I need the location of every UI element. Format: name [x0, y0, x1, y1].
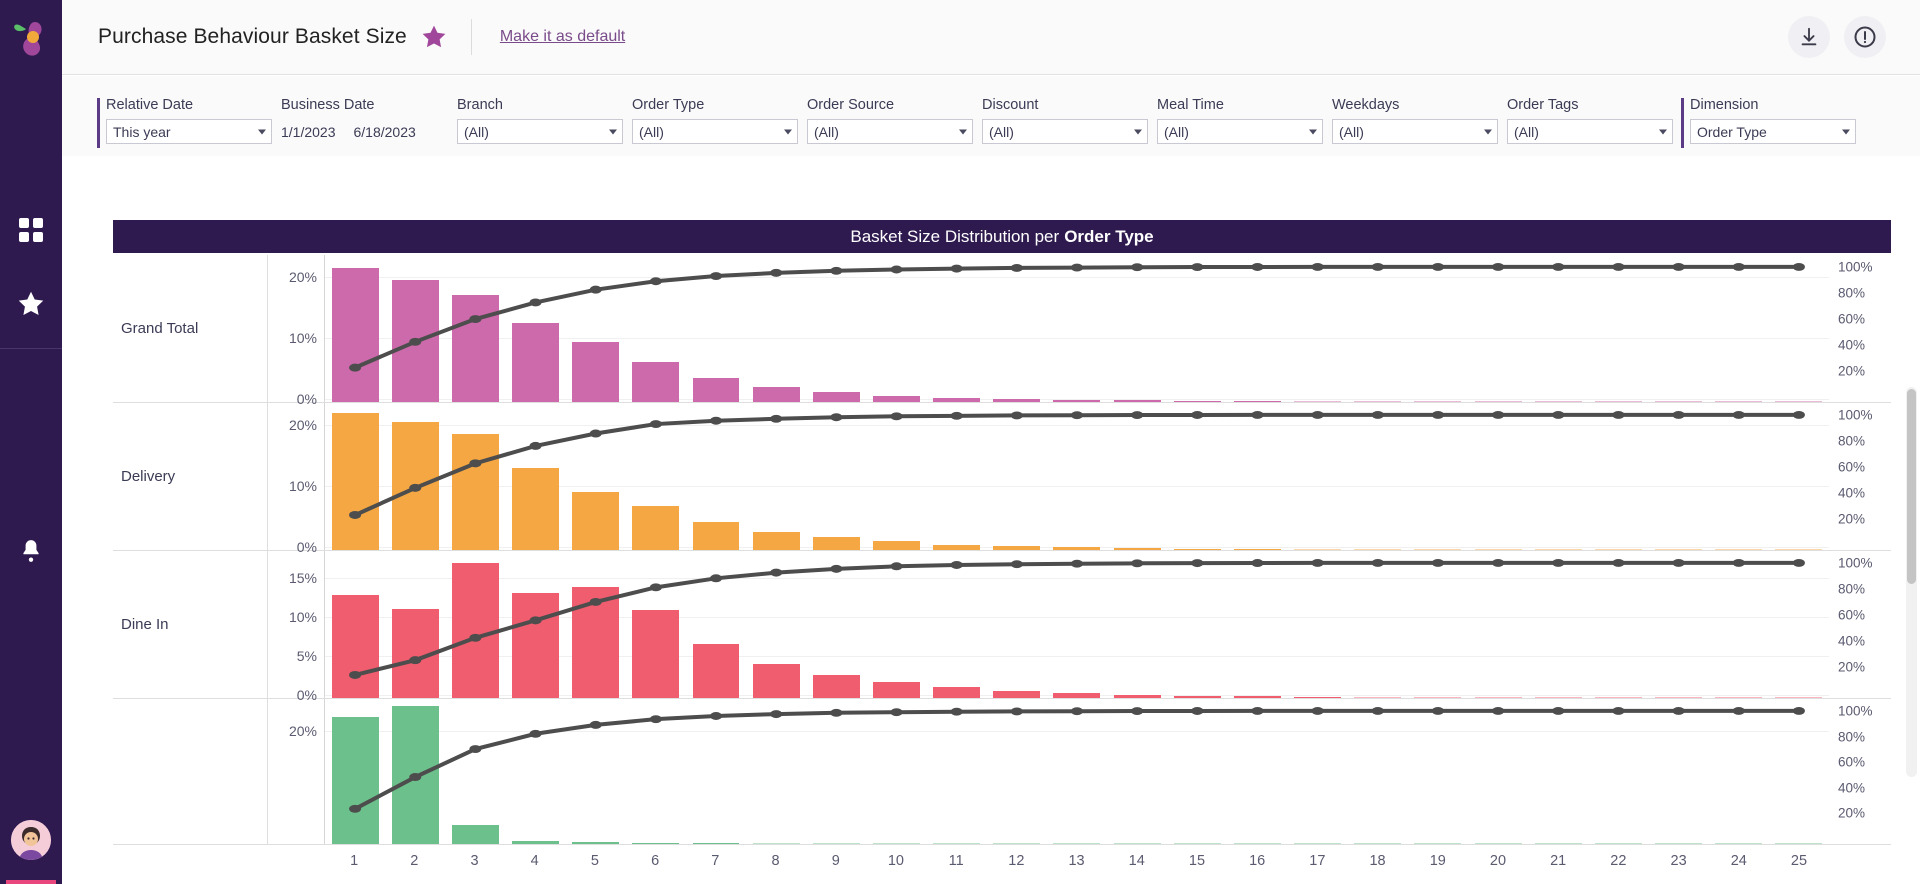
plot-region [324, 403, 1829, 550]
star-icon[interactable] [421, 24, 447, 50]
filter-label: Weekdays [1332, 98, 1498, 112]
x-axis-tick: 9 [806, 845, 866, 879]
x-axis-tick: 1 [324, 845, 384, 879]
filter-value: This year [113, 124, 171, 140]
chart-panel: Delivery0%10%20%100%80%60%40%20% [113, 403, 1891, 551]
x-axis-tick: 4 [505, 845, 565, 879]
filter-label: Order Type [632, 98, 798, 112]
chevron-down-icon[interactable] [1659, 129, 1667, 134]
x-axis-tick: 11 [926, 845, 986, 879]
panel-row-label: Delivery [113, 403, 268, 550]
y-axis-tick: 10% [289, 330, 317, 346]
cumulative-line-series [325, 255, 1829, 402]
date-start[interactable]: 1/1/2023 [281, 124, 336, 140]
x-axis-tick: 25 [1769, 845, 1829, 879]
x-axis-tick: 22 [1588, 845, 1648, 879]
chart-panels: Grand Total0%10%20%100%80%60%40%20%Deliv… [113, 255, 1891, 845]
x-axis-tick: 8 [745, 845, 805, 879]
date-end[interactable]: 6/18/2023 [354, 124, 416, 140]
x-axis-tick: 3 [444, 845, 504, 879]
filter-label: Branch [457, 98, 623, 112]
filter-relative-date: Relative DateThis year [97, 98, 272, 148]
secondary-axis-tick: 80% [1838, 582, 1865, 597]
download-icon[interactable] [1788, 16, 1830, 58]
filter-label: Order Source [807, 98, 973, 112]
filter-label: Order Tags [1507, 98, 1673, 112]
chart-panel: Dine In0%5%10%15%100%80%60%40%20% [113, 551, 1891, 699]
x-axis-tick: 16 [1227, 845, 1287, 879]
secondary-axis-tick: 100% [1838, 260, 1873, 275]
filter-label: Meal Time [1157, 98, 1323, 112]
secondary-axis-tick: 80% [1838, 434, 1865, 449]
notifications-bell-icon[interactable] [9, 529, 53, 573]
x-axis-tick: 13 [1046, 845, 1106, 879]
y-axis-tick: 10% [289, 609, 317, 625]
x-axis-tick: 21 [1528, 845, 1588, 879]
x-axis-tick: 6 [625, 845, 685, 879]
x-axis-tick: 10 [866, 845, 926, 879]
filter-group-list: Relative DateThis yearBusiness Date1/1/2… [97, 98, 1920, 148]
x-axis-tick: 15 [1167, 845, 1227, 879]
secondary-axis-tick: 60% [1838, 755, 1865, 770]
secondary-y-axis: 100%80%60%40%20% [1829, 699, 1891, 844]
secondary-y-axis: 100%80%60%40%20% [1829, 255, 1891, 402]
y-axis-tick: 20% [289, 269, 317, 285]
x-axis-tick: 2 [384, 845, 444, 879]
left-nav-rail [0, 0, 62, 884]
filter-dimension: DimensionOrder Type [1681, 98, 1856, 148]
page-title: Purchase Behaviour Basket Size [98, 25, 407, 49]
rail-divider [0, 348, 62, 349]
page-header: Purchase Behaviour Basket Size Make it a… [62, 0, 1920, 75]
secondary-axis-tick: 40% [1838, 338, 1865, 353]
filter-order-tags: Order Tags(All) [1498, 98, 1673, 148]
filter-branch: Branch(All) [448, 98, 623, 148]
cumulative-line-series [325, 699, 1829, 844]
secondary-axis-tick: 60% [1838, 460, 1865, 475]
filter-select[interactable]: (All) [982, 119, 1148, 144]
y-axis: 0%10%20% [268, 403, 324, 550]
secondary-axis-tick: 20% [1838, 660, 1865, 675]
filter-label: Relative Date [106, 98, 272, 112]
chevron-down-icon[interactable] [1309, 129, 1317, 134]
panel-row-label [113, 699, 268, 844]
x-axis-tick: 20 [1468, 845, 1528, 879]
cumulative-line-series [325, 551, 1829, 698]
x-axis-tick: 19 [1408, 845, 1468, 879]
chart-panel: Grand Total0%10%20%100%80%60%40%20% [113, 255, 1891, 403]
filter-business-date: Business Date1/1/20236/18/2023 [272, 98, 448, 148]
filter-label: Business Date [281, 98, 448, 112]
filter-value: (All) [814, 124, 839, 140]
filter-meal-time: Meal Time(All) [1148, 98, 1323, 148]
panel-row-label: Dine In [113, 551, 268, 698]
header-actions [1788, 16, 1886, 58]
filter-bar: Relative DateThis yearBusiness Date1/1/2… [62, 76, 1920, 156]
secondary-axis-tick: 100% [1838, 408, 1873, 423]
filter-select[interactable]: (All) [1157, 119, 1323, 144]
filter-value: (All) [989, 124, 1014, 140]
y-axis-tick: 5% [297, 648, 317, 664]
secondary-axis-tick: 80% [1838, 286, 1865, 301]
x-axis-tick: 17 [1287, 845, 1347, 879]
secondary-axis-tick: 100% [1838, 704, 1873, 719]
make-default-link[interactable]: Make it as default [500, 28, 625, 46]
x-axis-ticks: 1234567891011121314151617181920212223242… [324, 845, 1829, 879]
panel-row-label: Grand Total [113, 255, 268, 402]
chart-area: Basket Size Distribution per Order Type … [62, 157, 1920, 884]
secondary-axis-tick: 80% [1838, 729, 1865, 744]
scrollbar-thumb[interactable] [1907, 389, 1916, 584]
x-axis-tick: 12 [986, 845, 1046, 879]
date-range[interactable]: 1/1/20236/18/2023 [281, 119, 448, 144]
filter-select[interactable]: Order Type [1690, 119, 1856, 144]
filter-select[interactable]: (All) [1332, 119, 1498, 144]
y-axis: 0%5%10%15% [268, 551, 324, 698]
chevron-down-icon[interactable] [609, 129, 617, 134]
filter-label: Discount [982, 98, 1148, 112]
chart-panel: 20%100%80%60%40%20% [113, 699, 1891, 845]
x-axis: 1234567891011121314151617181920212223242… [113, 845, 1891, 879]
plot-region [324, 255, 1829, 402]
filter-label: Dimension [1690, 98, 1856, 112]
x-axis-tick: 18 [1347, 845, 1407, 879]
secondary-axis-tick: 40% [1838, 634, 1865, 649]
filter-value: (All) [464, 124, 489, 140]
secondary-axis-tick: 40% [1838, 780, 1865, 795]
header-divider [471, 19, 472, 55]
filter-select[interactable]: (All) [807, 119, 973, 144]
dashboard-grid-icon[interactable] [9, 208, 53, 252]
secondary-axis-tick: 40% [1838, 486, 1865, 501]
filter-select[interactable]: (All) [1507, 119, 1673, 144]
chevron-down-icon[interactable] [784, 129, 792, 134]
secondary-axis-tick: 20% [1838, 512, 1865, 527]
y-axis-tick: 15% [289, 570, 317, 586]
filter-order-type: Order Type(All) [623, 98, 798, 148]
y-axis-tick: 20% [289, 417, 317, 433]
chevron-down-icon[interactable] [1484, 129, 1492, 134]
x-axis-tick: 14 [1107, 845, 1167, 879]
secondary-axis-tick: 100% [1838, 556, 1873, 571]
x-axis-tick: 7 [685, 845, 745, 879]
y-axis: 0%10%20% [268, 255, 324, 402]
plot-region [324, 551, 1829, 698]
secondary-y-axis: 100%80%60%40%20% [1829, 403, 1891, 550]
secondary-axis-tick: 60% [1838, 608, 1865, 623]
filter-select[interactable]: (All) [457, 119, 623, 144]
chart-title-dimension: Order Type [1064, 227, 1153, 247]
x-axis-tick: 23 [1648, 845, 1708, 879]
chevron-down-icon[interactable] [959, 129, 967, 134]
favorites-star-icon[interactable] [9, 282, 53, 326]
y-axis-tick: 20% [289, 723, 317, 739]
chevron-down-icon[interactable] [1134, 129, 1142, 134]
user-avatar[interactable] [9, 818, 53, 862]
filter-order-source: Order Source(All) [798, 98, 973, 148]
filter-value: Order Type [1697, 124, 1767, 140]
filter-value: (All) [639, 124, 664, 140]
y-axis-tick: 10% [289, 478, 317, 494]
secondary-y-axis: 100%80%60%40%20% [1829, 551, 1891, 698]
secondary-axis-tick: 60% [1838, 312, 1865, 327]
chevron-down-icon[interactable] [258, 129, 266, 134]
filter-select[interactable]: This year [106, 119, 272, 144]
filter-weekdays: Weekdays(All) [1323, 98, 1498, 148]
filter-value: (All) [1339, 124, 1364, 140]
x-axis-tick: 24 [1709, 845, 1769, 879]
filter-value: (All) [1514, 124, 1539, 140]
flower-logo-icon[interactable] [9, 16, 53, 62]
chart-title-prefix: Basket Size Distribution per [850, 227, 1059, 247]
chart-title: Basket Size Distribution per Order Type [113, 220, 1891, 253]
cumulative-line-series [325, 403, 1829, 550]
chevron-down-icon[interactable] [1842, 129, 1850, 134]
filter-select[interactable]: (All) [632, 119, 798, 144]
info-icon[interactable] [1844, 16, 1886, 58]
plot-region [324, 699, 1829, 844]
filter-discount: Discount(All) [973, 98, 1148, 148]
vertical-scrollbar[interactable] [1906, 387, 1917, 777]
y-axis: 20% [268, 699, 324, 844]
x-axis-tick: 5 [565, 845, 625, 879]
secondary-axis-tick: 20% [1838, 806, 1865, 821]
secondary-axis-tick: 20% [1838, 364, 1865, 379]
filter-value: (All) [1164, 124, 1189, 140]
active-indicator [6, 880, 56, 884]
